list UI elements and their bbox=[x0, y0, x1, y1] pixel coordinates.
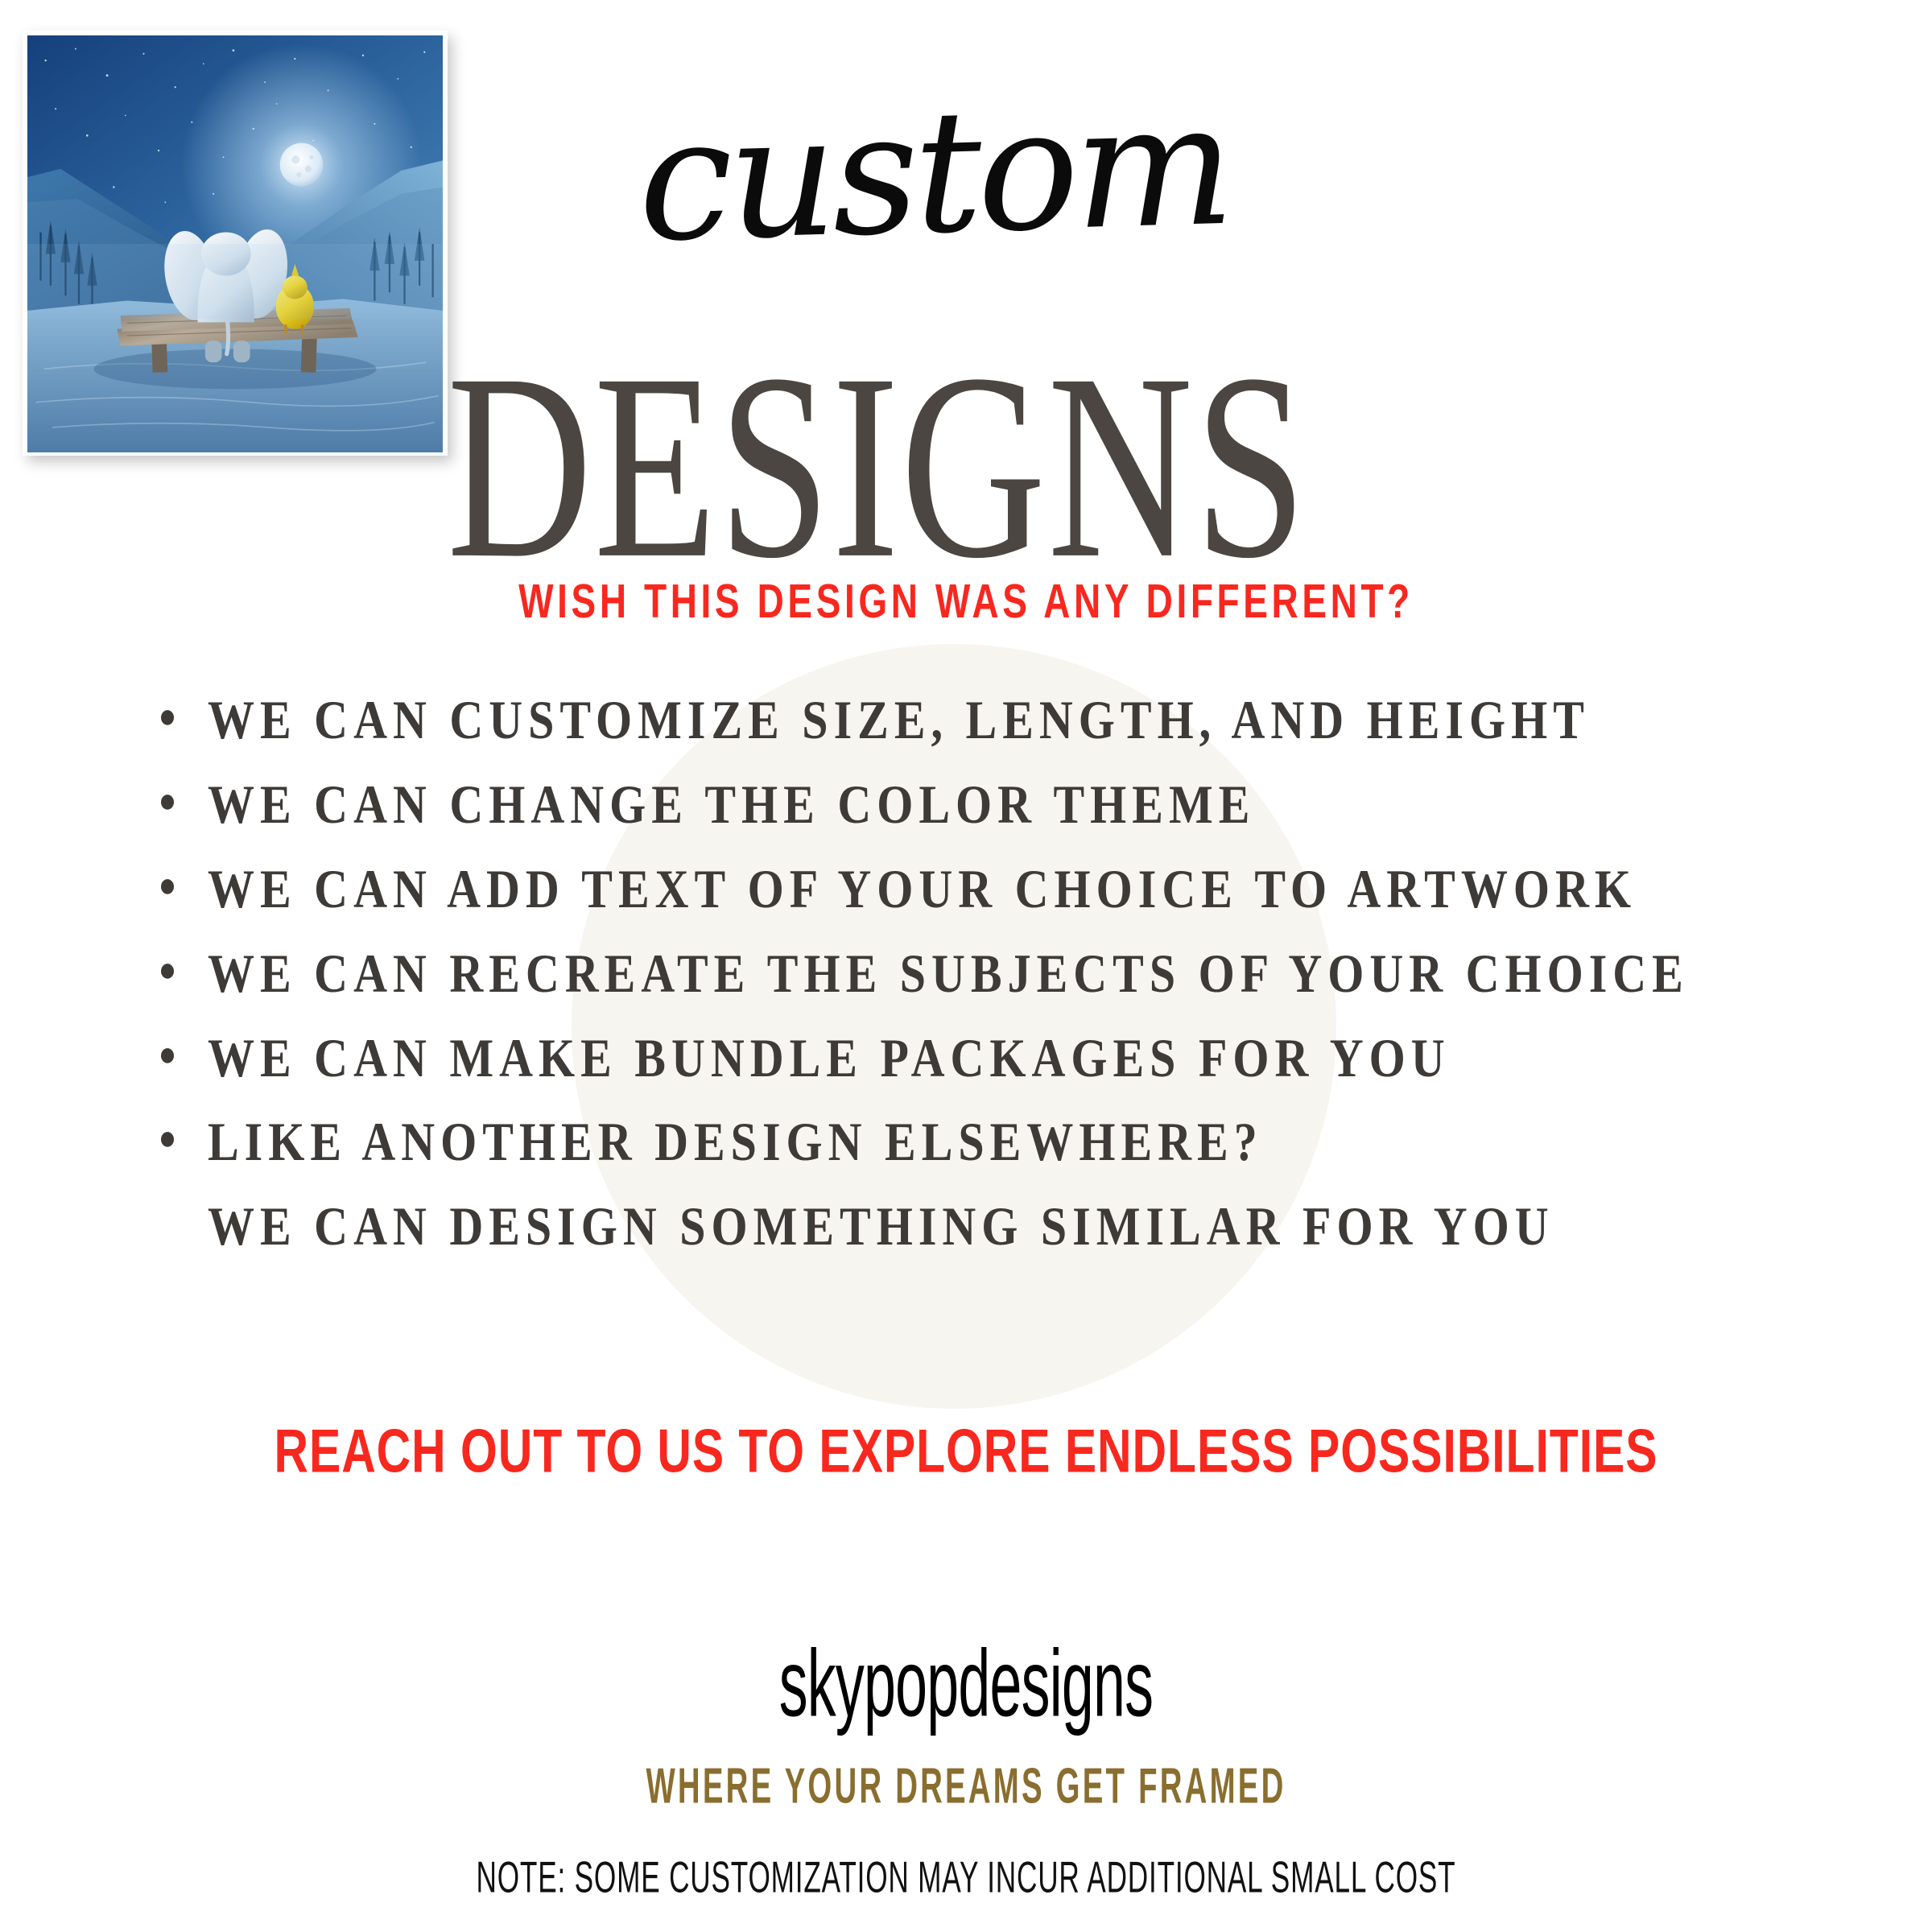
bullet-dot-icon bbox=[161, 1048, 174, 1063]
feature-item-label: WE CAN MAKE BUNDLE PACKAGES FOR YOU bbox=[208, 1030, 1451, 1088]
feature-list-item: LIKE ANOTHER DESIGN ELSEWHERE? bbox=[161, 1115, 1819, 1172]
bullet-dot-icon bbox=[161, 1133, 174, 1148]
feature-list-item: WE CAN CHANGE THE COLOR THEME bbox=[161, 777, 1819, 834]
feature-list-item: WE CAN MAKE BUNDLE PACKAGES FOR YOU bbox=[161, 1030, 1819, 1088]
bullet-dot-icon bbox=[161, 879, 174, 894]
feature-list-item: WE CAN DESIGN SOMETHING SIMILAR FOR YOU bbox=[161, 1199, 1819, 1256]
bullet-dot-icon bbox=[161, 964, 174, 979]
feature-item-label: WE CAN DESIGN SOMETHING SIMILAR FOR YOU bbox=[208, 1199, 1554, 1256]
feature-list: WE CAN CUSTOMIZE SIZE, LENGTH, AND HEIGH… bbox=[161, 696, 1819, 1287]
cta-text: REACH OUT TO US TO EXPLORE ENDLESS POSSI… bbox=[48, 1417, 1884, 1487]
bullet-dot-icon bbox=[161, 710, 174, 725]
brand-tagline: WHERE YOUR DREAMS GET FRAMED bbox=[193, 1758, 1739, 1816]
feature-item-label: WE CAN ADD TEXT OF YOUR CHOICE TO ARTWOR… bbox=[208, 861, 1637, 919]
feature-list-item: WE CAN RECREATE THE SUBJECTS OF YOUR CHO… bbox=[161, 946, 1819, 1003]
feature-item-label: LIKE ANOTHER DESIGN ELSEWHERE? bbox=[208, 1115, 1263, 1172]
feature-list-item: WE CAN ADD TEXT OF YOUR CHOICE TO ARTWOR… bbox=[161, 861, 1819, 919]
feature-item-label: WE CAN RECREATE THE SUBJECTS OF YOUR CHO… bbox=[208, 946, 1689, 1003]
script-headline: custom bbox=[448, 75, 1418, 270]
feature-item-label: WE CAN CHANGE THE COLOR THEME bbox=[208, 777, 1255, 834]
bullet-dot-icon bbox=[161, 1217, 174, 1232]
subtitle-question: WISH THIS DESIGN WAS ANY DIFFERENT? bbox=[77, 574, 1855, 629]
feature-list-item: WE CAN CUSTOMIZE SIZE, LENGTH, AND HEIGH… bbox=[161, 692, 1819, 749]
footnote-note: NOTE: SOME CUSTOMIZATION MAY INCUR ADDIT… bbox=[193, 1853, 1739, 1903]
brand-name: skypopdesigns bbox=[213, 1630, 1719, 1738]
page-title: DESIGNS bbox=[306, 336, 1449, 597]
feature-item-label: WE CAN CUSTOMIZE SIZE, LENGTH, AND HEIGH… bbox=[208, 692, 1590, 749]
bullet-dot-icon bbox=[161, 795, 174, 810]
